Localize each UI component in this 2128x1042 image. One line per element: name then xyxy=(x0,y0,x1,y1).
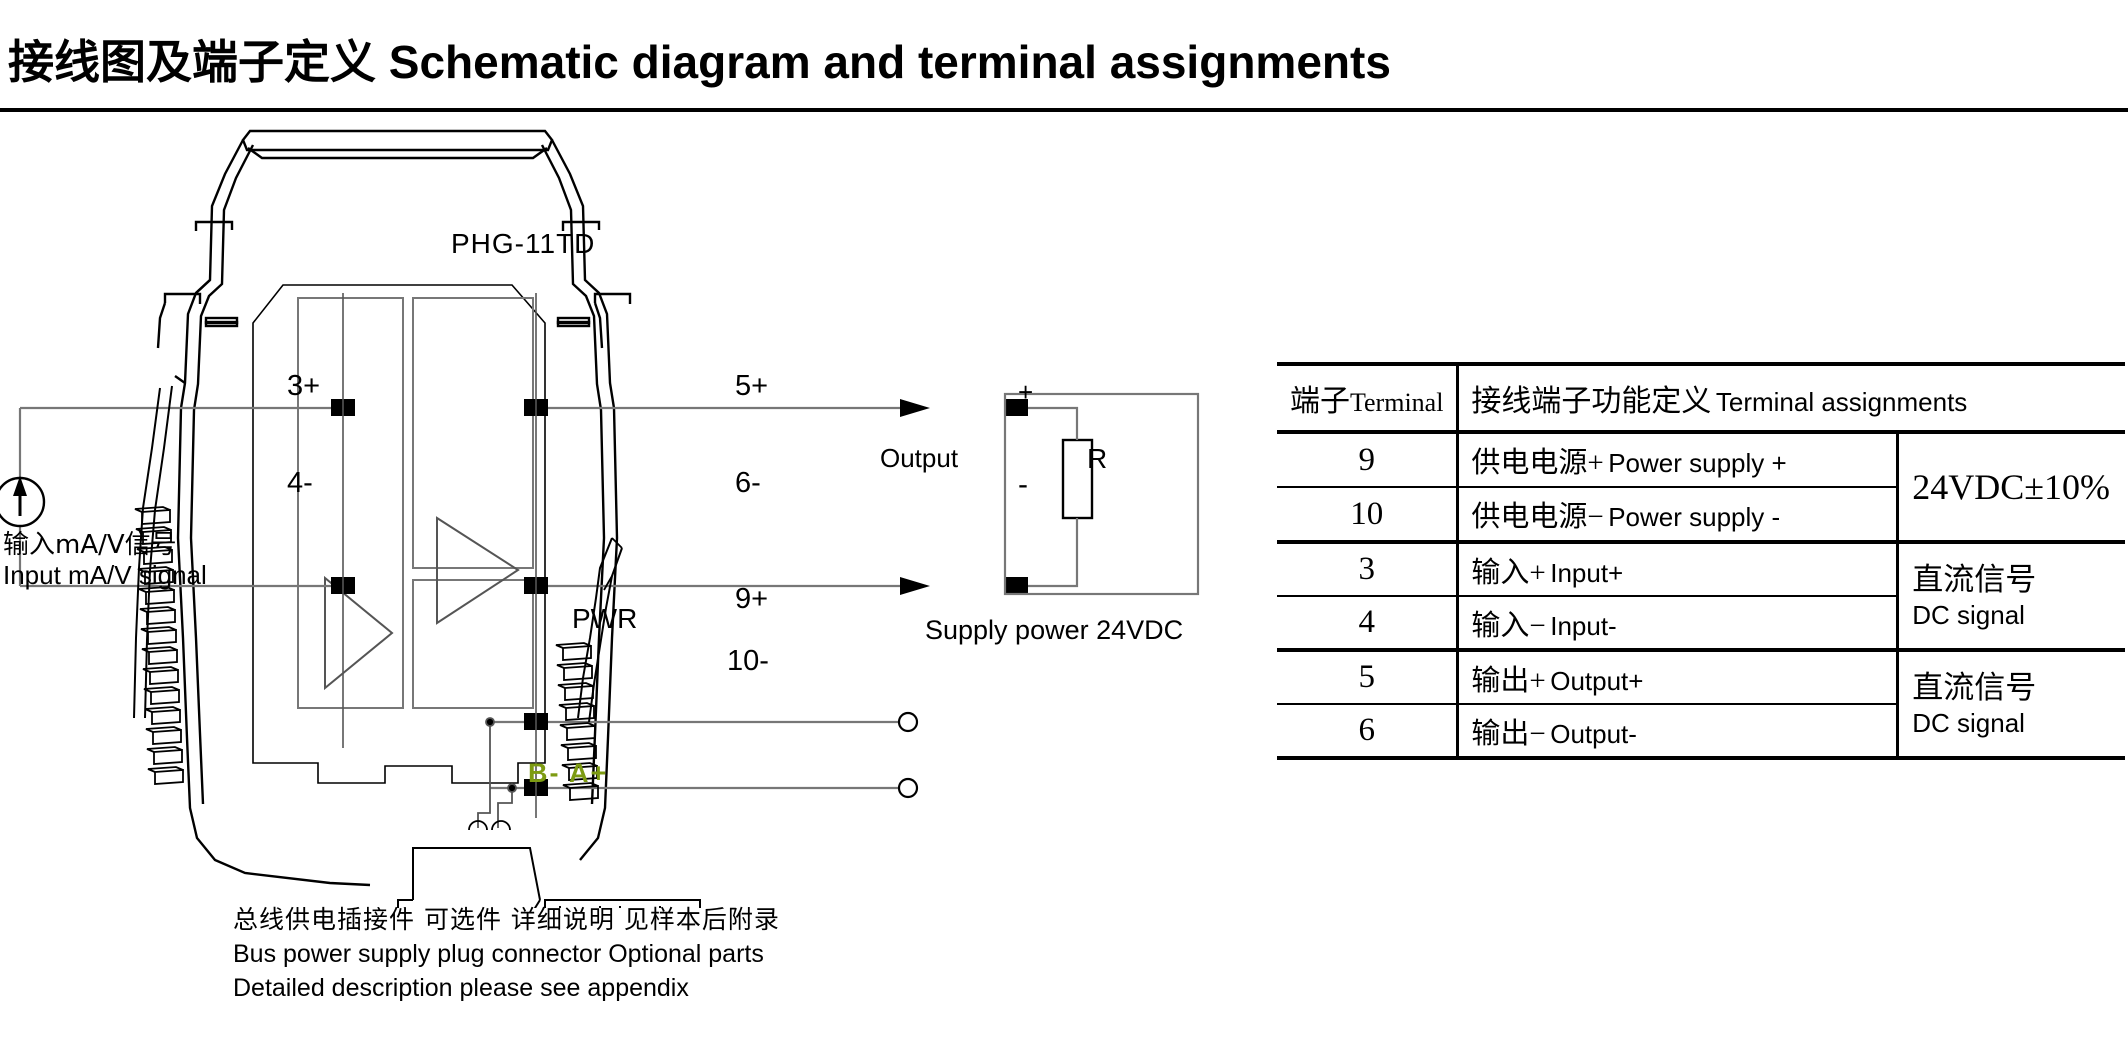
header-divider xyxy=(0,108,2128,112)
caption-line-en-2: Detailed description please see appendix xyxy=(233,971,780,1005)
cell-description-cn: 供电电源+ xyxy=(1471,447,1603,479)
terminal-label-6: 6- xyxy=(735,467,761,500)
cell-description: 输入+ Input+ xyxy=(1458,542,1898,596)
cell-note: 直流信号 DC signal xyxy=(1898,650,2125,758)
header-terminal-en: Terminal xyxy=(1350,388,1443,417)
arrow-output-minus xyxy=(900,577,930,595)
cell-description: 供电电源+ Power supply + xyxy=(1458,432,1898,487)
terminal-label-9: 9+ xyxy=(735,583,768,616)
cell-description: 输出+ Output+ xyxy=(1458,650,1898,704)
pwr-block-label: PWR xyxy=(572,603,637,635)
input-source-symbol xyxy=(0,476,44,526)
caption-line-cn: 总线供电插接件 可选件 详细说明 见样本后附录 xyxy=(233,903,780,937)
schematic-diagram xyxy=(0,118,1250,908)
supply-power-terminals xyxy=(899,713,917,797)
cell-description-cn: 输出+ xyxy=(1471,665,1545,697)
output-label: Output xyxy=(880,443,958,474)
cell-note-en: DC signal xyxy=(1912,707,2125,739)
resistor-label: R xyxy=(1087,443,1107,475)
amplifier-triangle-right xyxy=(437,518,518,623)
cell-description-cn: 输出− xyxy=(1471,718,1545,750)
header-assignments-en: Terminal assignments xyxy=(1716,387,1967,417)
cell-description-cn: 输入− xyxy=(1471,610,1545,642)
isolation-block-left xyxy=(298,298,403,708)
table-row: 5 输出+ Output+ 直流信号 DC signal xyxy=(1277,650,2125,704)
output-load-circuit xyxy=(1005,394,1198,594)
amplifier-triangles xyxy=(325,518,518,688)
cell-description: 输出− Output- xyxy=(1458,704,1898,758)
terminal-marker-out-minus xyxy=(1004,577,1028,594)
bus-connector-pins xyxy=(469,821,510,830)
caption-line-en-1: Bus power supply plug connector Optional… xyxy=(233,937,780,971)
table-header-row: 端子Terminal 接线端子功能定义 Terminal assignments xyxy=(1277,364,2125,432)
amplifier-triangle-left xyxy=(325,578,392,688)
header-assignments-cn: 接线端子功能定义 xyxy=(1471,385,1711,418)
amplifier-block xyxy=(413,298,533,568)
diagram-caption: 总线供电插接件 可选件 详细说明 见样本后附录 Bus power supply… xyxy=(233,903,780,1005)
cell-note: 直流信号 DC signal xyxy=(1898,542,2125,650)
terminal-assignments-table: 端子Terminal 接线端子功能定义 Terminal assignments… xyxy=(1277,362,2125,760)
internal-blocks xyxy=(298,298,533,708)
din-rail-clip xyxy=(383,848,710,908)
device-model-label: PHG-11TD xyxy=(451,228,595,260)
pwr-internal-wiring xyxy=(478,718,516,828)
cell-description-en: Input+ xyxy=(1550,558,1623,588)
input-signal-label-cn: 输入mA/V信号 xyxy=(3,524,177,561)
cell-terminal: 6 xyxy=(1277,704,1458,758)
output-plus-label: + xyxy=(1018,377,1033,408)
cell-terminal: 3 xyxy=(1277,542,1458,596)
cell-note-value: 24VDC±10% xyxy=(1912,467,2110,507)
cell-description-en: Power supply + xyxy=(1608,448,1786,478)
header-cell-terminal: 端子Terminal xyxy=(1277,364,1458,432)
output-flow-arrows xyxy=(900,399,930,595)
cell-description-en: Power supply - xyxy=(1608,502,1780,532)
terminal-label-5: 5+ xyxy=(735,370,768,403)
cell-description: 供电电源− Power supply - xyxy=(1458,487,1898,542)
page-title-cn: 接线图及端子定义 xyxy=(8,35,376,89)
supply-terminal-plus xyxy=(899,713,917,731)
supply-power-label: Supply power 24VDC xyxy=(925,615,1183,646)
cell-description: 输入− Input- xyxy=(1458,596,1898,650)
header-cell-assignments: 接线端子功能定义 Terminal assignments xyxy=(1458,364,2125,432)
cell-terminal: 10 xyxy=(1277,487,1458,542)
terminal-label-3: 3+ xyxy=(287,370,320,403)
output-minus-label: - xyxy=(1018,468,1028,502)
terminal-label-10: 10- xyxy=(727,645,769,678)
cell-note-cn: 直流信号 xyxy=(1912,669,2125,707)
bus-connector-label: B- A+ xyxy=(528,758,608,789)
cell-terminal: 5 xyxy=(1277,650,1458,704)
table-row: 3 输入+ Input+ 直流信号 DC signal xyxy=(1277,542,2125,596)
supply-terminal-minus xyxy=(899,779,917,797)
terminal-rails xyxy=(343,293,536,818)
page-title: 接线图及端子定义 Schematic diagram and terminal … xyxy=(8,26,1391,92)
cell-terminal: 4 xyxy=(1277,596,1458,650)
cell-description-en: Output+ xyxy=(1550,666,1643,696)
cell-description-cn: 输入+ xyxy=(1471,557,1545,589)
cell-terminal: 9 xyxy=(1277,432,1458,487)
cell-description-cn: 供电电源− xyxy=(1471,501,1603,533)
table-row: 9 供电电源+ Power supply + 24VDC±10% xyxy=(1277,432,2125,487)
page-title-en: Schematic diagram and terminal assignmen… xyxy=(389,36,1391,88)
arrow-output-plus xyxy=(900,399,930,417)
terminal-label-4: 4- xyxy=(287,467,313,500)
cell-note-cn: 直流信号 xyxy=(1912,561,2125,599)
input-signal-label-en: Input mA/V signal xyxy=(3,560,207,591)
header-terminal-cn: 端子 xyxy=(1290,385,1350,418)
cell-note: 24VDC±10% xyxy=(1898,432,2125,542)
cell-description-en: Input- xyxy=(1550,611,1617,641)
cell-note-en: DC signal xyxy=(1912,599,2125,631)
cell-description-en: Output- xyxy=(1550,719,1637,749)
